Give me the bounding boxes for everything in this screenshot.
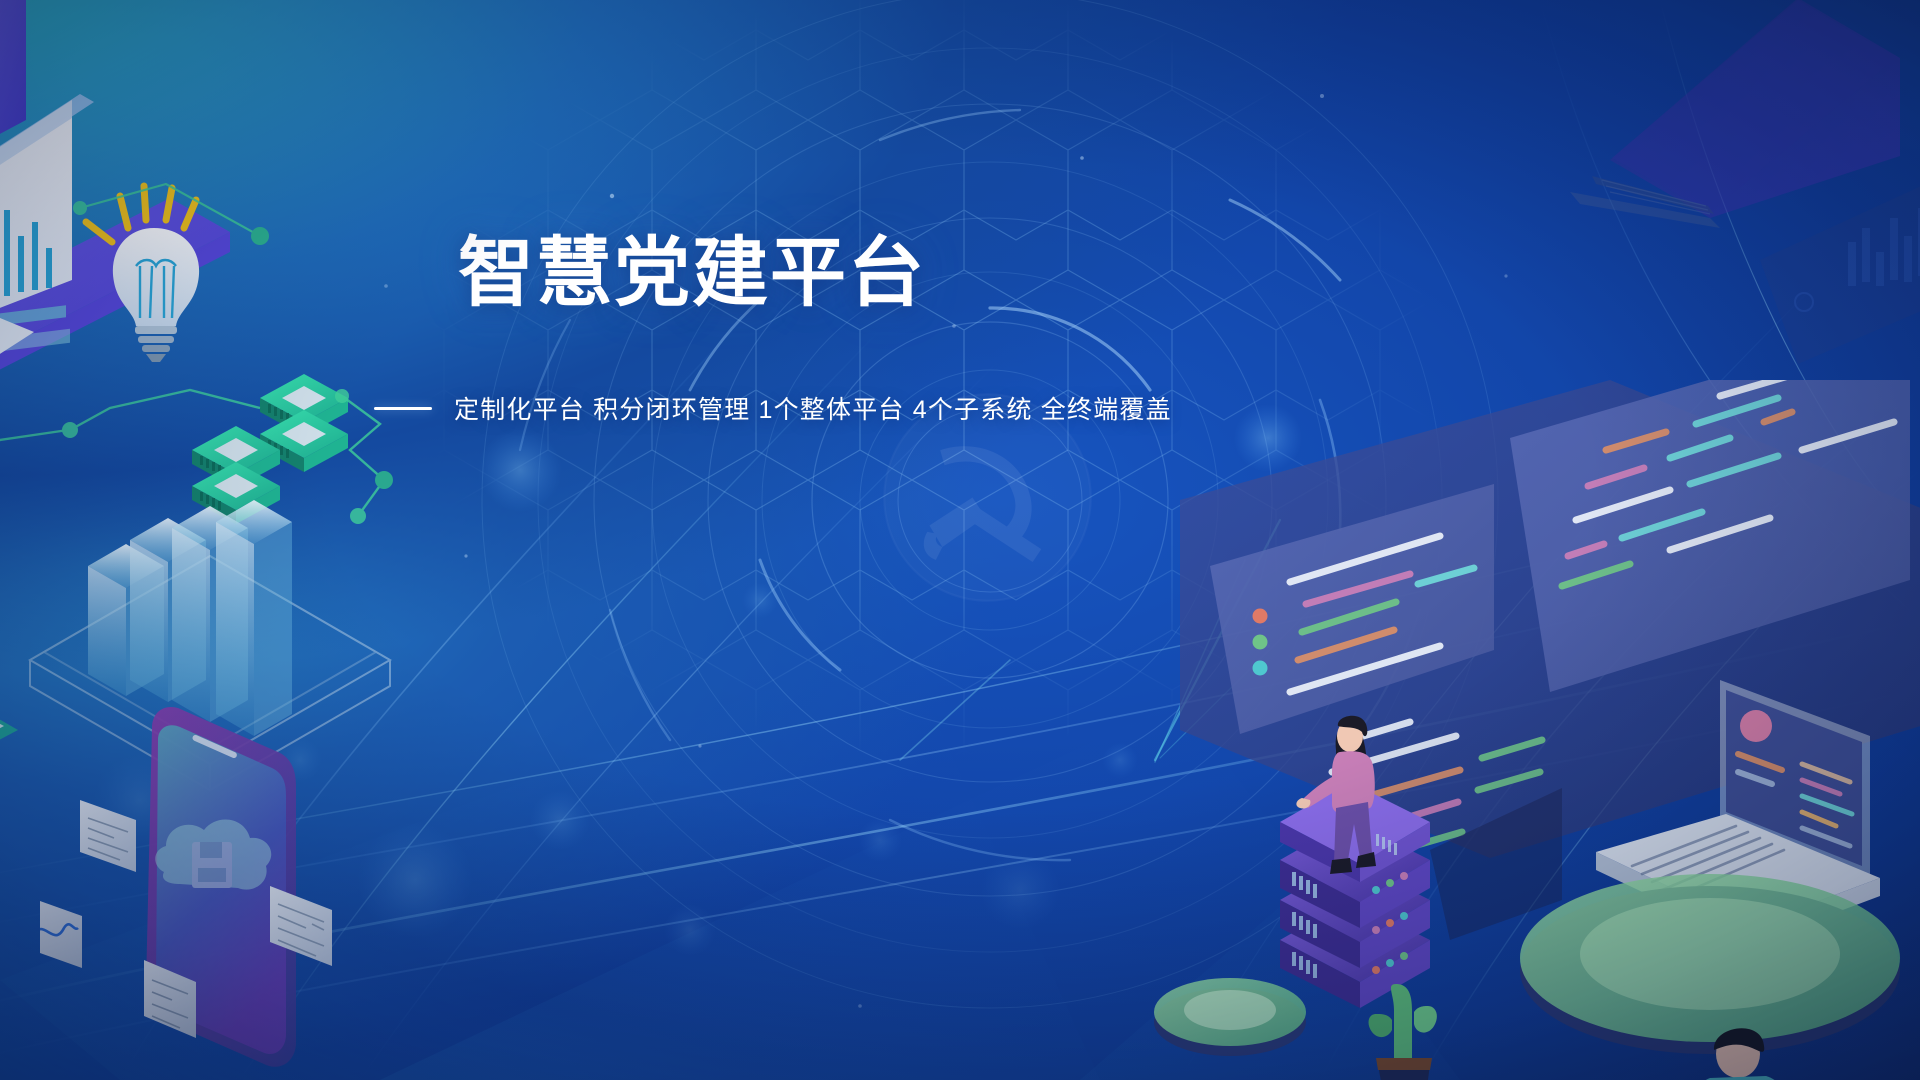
vignette-overlay	[0, 0, 1920, 1080]
hero-banner: 智慧党建平台 定制化平台 积分闭环管理 1个整体平台 4个子系统 全终端覆盖	[0, 0, 1920, 1080]
